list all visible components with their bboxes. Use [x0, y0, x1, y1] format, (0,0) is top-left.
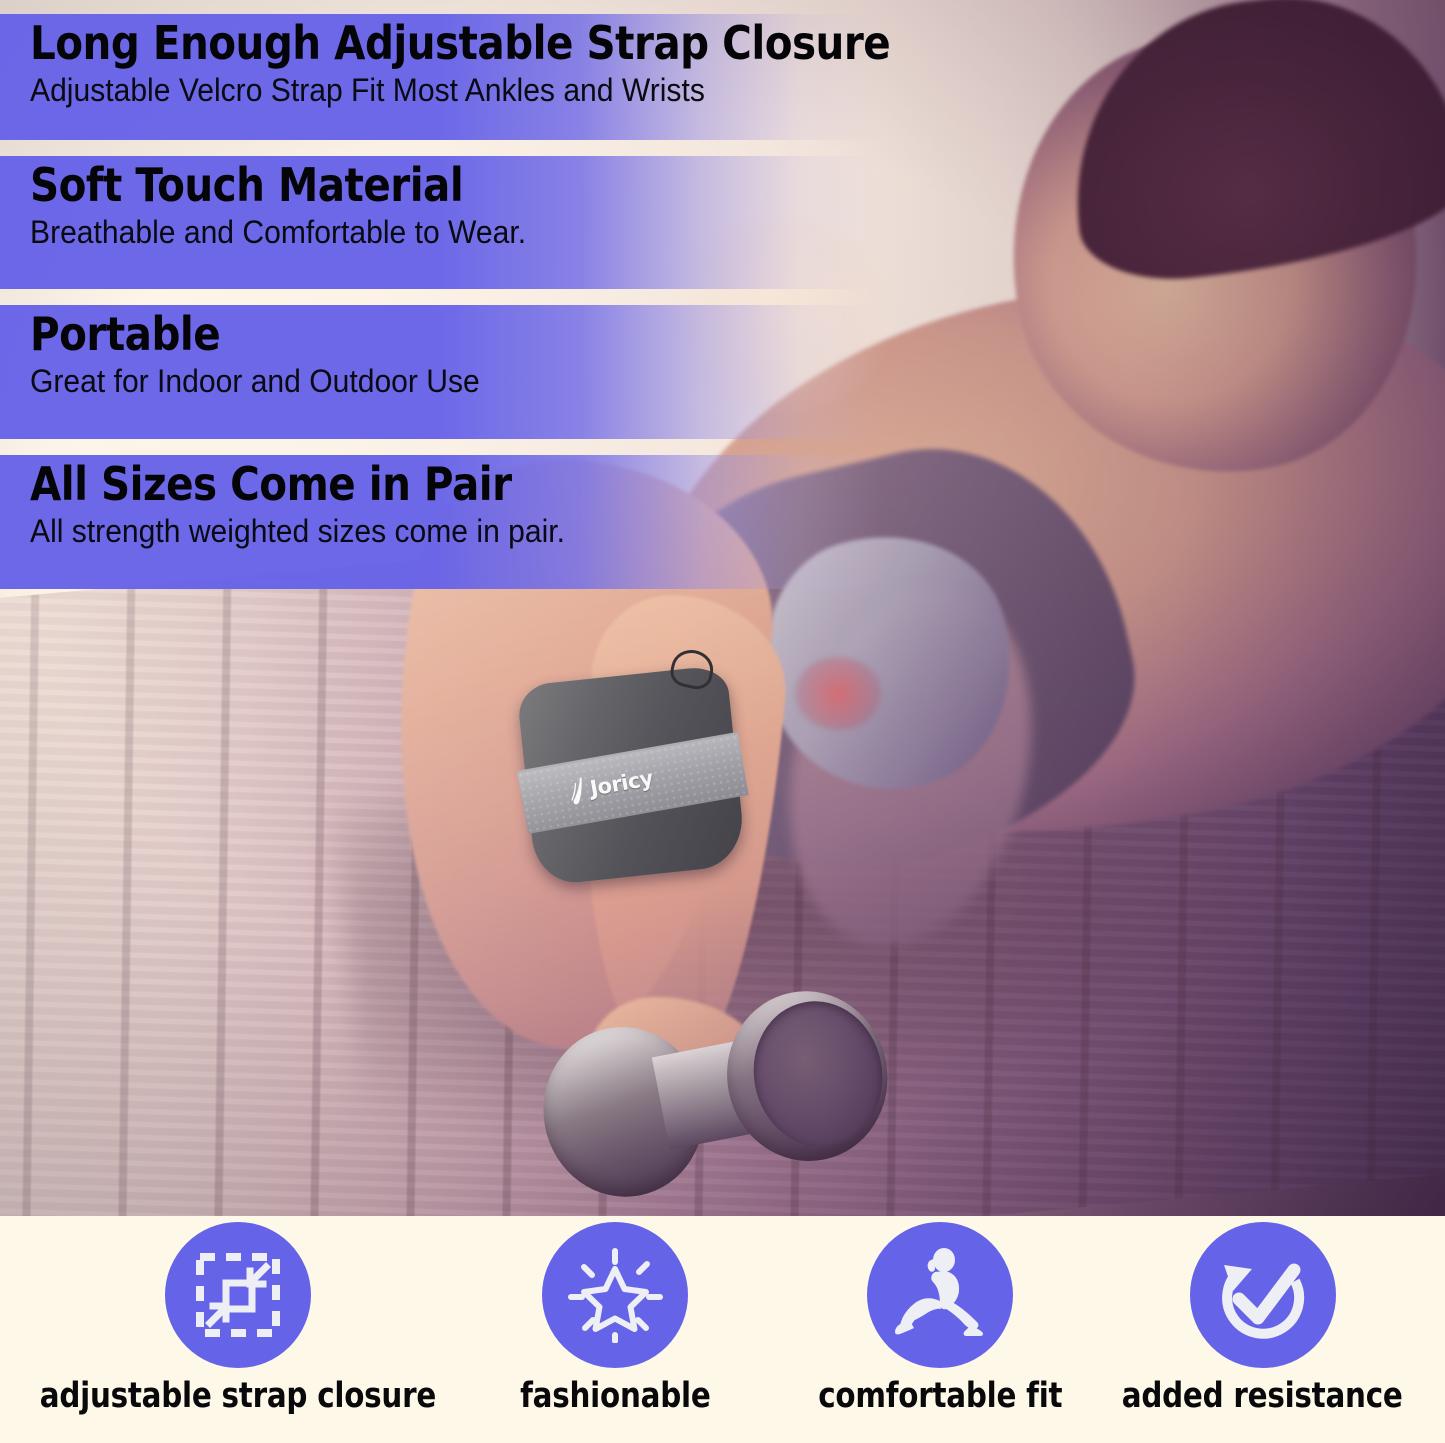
feature-icon-circle	[542, 1222, 688, 1368]
banner-title: Portable	[30, 311, 884, 359]
brand-name: Joricy	[588, 766, 655, 801]
feature-icon-circle	[867, 1222, 1013, 1368]
banner-subtitle: All strength weighted sizes come in pair…	[30, 511, 942, 552]
check-cycle-icon	[1211, 1243, 1315, 1347]
banner-title: Soft Touch Material	[30, 162, 884, 210]
feature-label: adjustable strap closure	[40, 1376, 436, 1416]
shoe-accent	[795, 657, 882, 730]
banner-subtitle: Breathable and Comfortable to Wear.	[30, 212, 942, 253]
feature-banner-1: Long Enough Adjustable Strap Closure Adj…	[0, 14, 1000, 140]
hero-photo: Joricy Long Enough Adjustable Strap Clos…	[0, 0, 1445, 1216]
feature-label: fashionable	[520, 1376, 710, 1416]
joricy-swoosh-icon	[567, 775, 589, 807]
sparkle-star-icon	[567, 1247, 663, 1343]
stretching-figure-icon	[888, 1243, 992, 1347]
feature-item-adjustable-strap-closure: adjustable strap closure	[28, 1216, 448, 1416]
banner-subtitle: Adjustable Velcro Strap Fit Most Ankles …	[30, 70, 942, 111]
weighted-strap-product: Joricy	[516, 664, 747, 886]
feature-item-added-resistance: added resistance	[1090, 1216, 1435, 1416]
feature-icon-circle	[165, 1222, 311, 1368]
resize-adjust-icon	[190, 1247, 286, 1343]
feature-banner-4: All Sizes Come in Pair All strength weig…	[0, 455, 1000, 589]
dumbbell-right-head	[713, 978, 902, 1176]
feature-item-comfortable-fit: comfortable fit	[790, 1216, 1090, 1416]
feature-banner-3: Portable Great for Indoor and Outdoor Us…	[0, 305, 1000, 439]
banner-title: Long Enough Adjustable Strap Closure	[30, 20, 884, 68]
banner-title: All Sizes Come in Pair	[30, 461, 884, 509]
feature-item-fashionable: fashionable	[460, 1216, 770, 1416]
banner-subtitle: Great for Indoor and Outdoor Use	[30, 361, 942, 402]
feature-label: added resistance	[1122, 1376, 1403, 1416]
feature-icon-circle	[1190, 1222, 1336, 1368]
feature-banner-2: Soft Touch Material Breathable and Comfo…	[0, 156, 1000, 289]
feature-label: comfortable fit	[818, 1376, 1062, 1416]
product-feature-poster: Joricy Long Enough Adjustable Strap Clos…	[0, 0, 1445, 1443]
feature-icon-strip: adjustable strap closure	[0, 1216, 1445, 1443]
